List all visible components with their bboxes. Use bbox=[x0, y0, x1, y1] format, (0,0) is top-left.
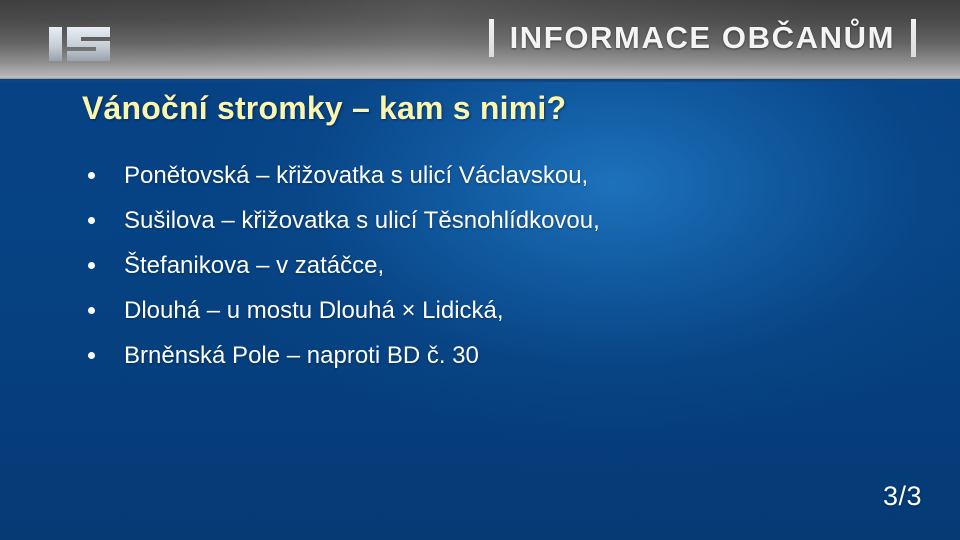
banner-title: INFORMACE OBČANŮM bbox=[510, 20, 895, 56]
list-item-label: Štefanikova – v zatáčce, bbox=[124, 252, 384, 279]
bullet-dot-icon bbox=[88, 307, 95, 314]
list-item-label: Ponětovská – křižovatka s ulicí Václavsk… bbox=[124, 162, 588, 189]
banner-title-group: INFORMACE OBČANŮM bbox=[489, 0, 916, 76]
list-item: Dlouhá – u mostu Dlouhá × Lidická, bbox=[82, 288, 882, 333]
banner-divider-bar-left bbox=[489, 19, 494, 57]
list-item-label: Brněnská Pole – naproti BD č. 30 bbox=[124, 342, 479, 369]
banner-bottom-rule bbox=[0, 79, 960, 82]
list-item: Štefanikova – v zatáčce, bbox=[82, 243, 882, 288]
bullet-list: Ponětovská – křižovatka s ulicí Václavsk… bbox=[82, 153, 882, 378]
bullet-dot-icon bbox=[88, 217, 95, 224]
header-banner: INFORMACE OBČANŮM bbox=[0, 0, 960, 76]
slide-title: Vánoční stromky – kam s nimi? bbox=[82, 90, 566, 127]
list-item: Sušilova – křižovatka s ulicí Těsnohlídk… bbox=[82, 198, 882, 243]
list-item: Brněnská Pole – naproti BD č. 30 bbox=[82, 333, 882, 378]
page-number: 3/3 bbox=[883, 481, 922, 512]
bullet-dot-icon bbox=[88, 172, 95, 179]
bullet-dot-icon bbox=[88, 262, 95, 269]
banner-divider-bar-right bbox=[911, 19, 916, 57]
is-monogram-logo-icon bbox=[48, 24, 122, 64]
list-item: Ponětovská – křižovatka s ulicí Václavsk… bbox=[82, 153, 882, 198]
list-item-label: Dlouhá – u mostu Dlouhá × Lidická, bbox=[124, 297, 504, 324]
presentation-slide: INFORMACE OBČANŮM Vánoční stromky – kam … bbox=[0, 0, 960, 540]
list-item-label: Sušilova – křižovatka s ulicí Těsnohlídk… bbox=[124, 207, 600, 234]
bullet-dot-icon bbox=[88, 352, 95, 359]
